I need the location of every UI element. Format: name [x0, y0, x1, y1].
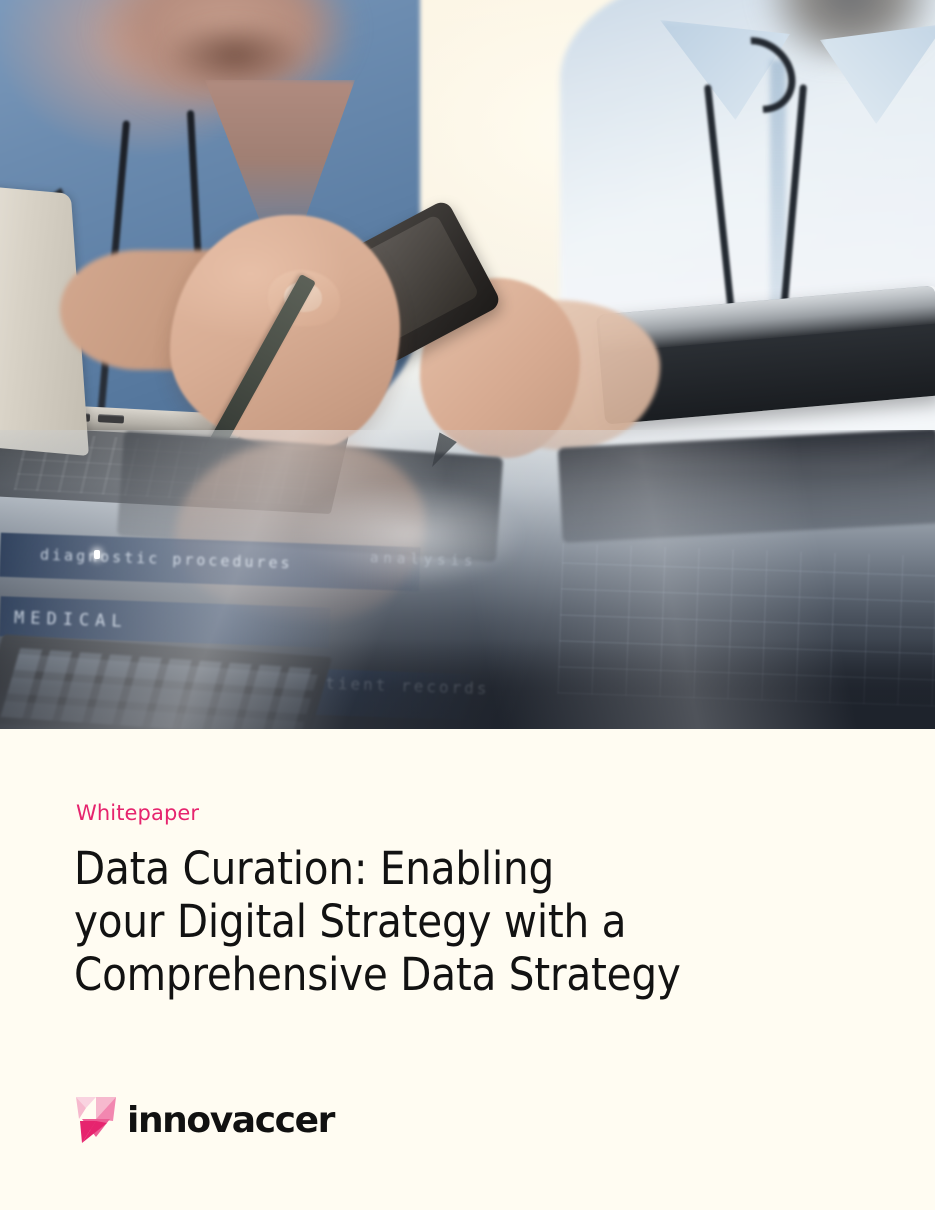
brand-logo: innovaccer [76, 1097, 334, 1144]
innovaccer-logo-mark [76, 1097, 116, 1144]
hero-image: diagnostic procedures MEDICAL decision s… [0, 0, 935, 729]
glass-sheen-overlay [0, 430, 935, 729]
laptop-port [98, 414, 124, 423]
whitepaper-cover-page: diagnostic procedures MEDICAL decision s… [0, 0, 935, 1210]
cover-content: Whitepaper Data Curation: Enabling your … [0, 729, 935, 1210]
document-type-label: Whitepaper [76, 801, 199, 825]
page-title: Data Curation: Enabling your Digital Str… [74, 842, 864, 1001]
brand-wordmark: innovaccer [127, 1103, 334, 1139]
